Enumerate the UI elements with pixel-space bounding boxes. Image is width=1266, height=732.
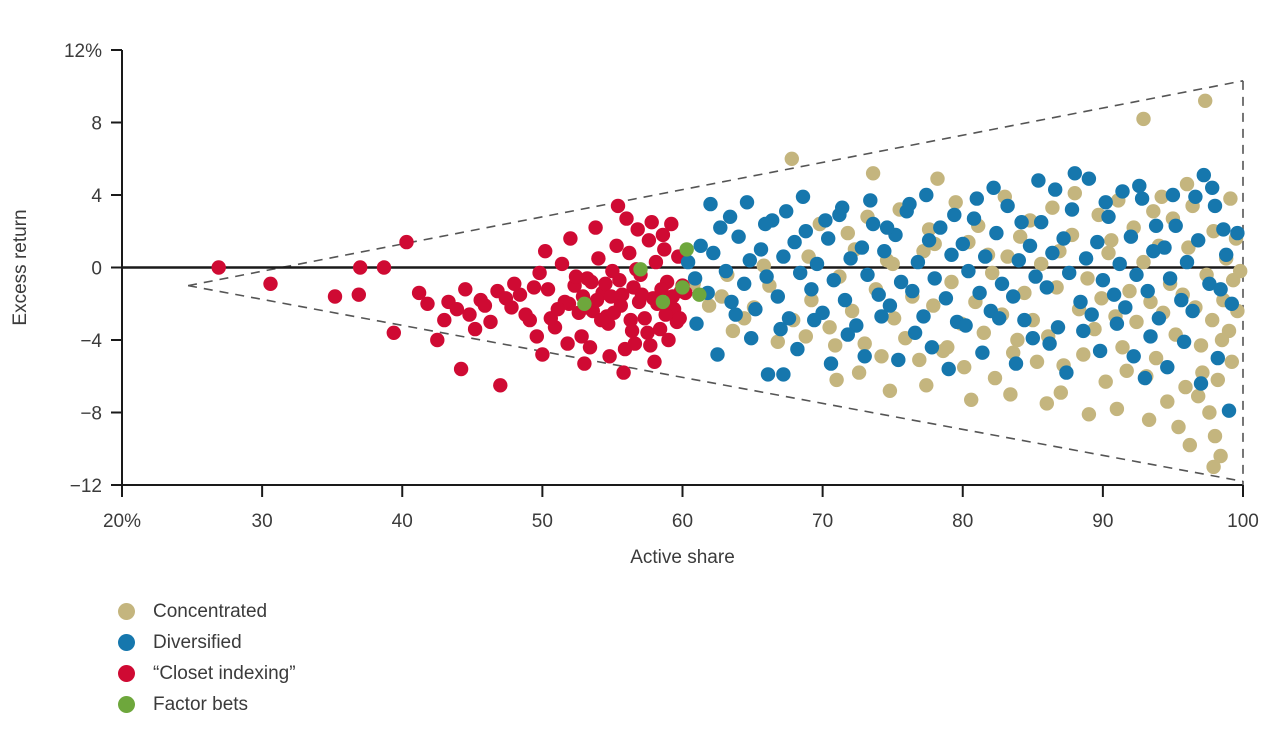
data-point <box>675 280 689 294</box>
data-point <box>594 313 608 327</box>
data-point <box>1213 282 1227 296</box>
data-point <box>866 217 880 231</box>
data-point <box>499 291 513 305</box>
data-point <box>430 333 444 347</box>
data-point <box>1045 246 1059 260</box>
data-point <box>1178 380 1192 394</box>
data-point <box>1115 184 1129 198</box>
legend-label: Diversified <box>153 633 242 652</box>
data-point <box>1160 360 1174 374</box>
data-point <box>263 277 277 291</box>
data-point <box>377 260 391 274</box>
data-point <box>602 349 616 363</box>
data-point <box>1211 351 1225 365</box>
data-point <box>967 211 981 225</box>
data-point <box>726 324 740 338</box>
data-point <box>530 329 544 343</box>
data-point <box>563 231 577 245</box>
data-point <box>611 199 625 213</box>
legend-item[interactable]: Concentrated <box>118 596 296 627</box>
data-point <box>713 220 727 234</box>
data-point <box>588 220 602 234</box>
x-tick-label: 90 <box>1092 511 1113 532</box>
data-point <box>1225 355 1239 369</box>
data-point <box>1068 186 1082 200</box>
data-point <box>212 260 226 274</box>
x-axis-title: Active share <box>630 547 735 568</box>
series-concentrated <box>687 94 1248 474</box>
data-point <box>776 249 790 263</box>
data-point <box>743 253 757 267</box>
data-point <box>947 208 961 222</box>
data-point <box>1059 365 1073 379</box>
data-point <box>1073 295 1087 309</box>
data-point <box>681 255 695 269</box>
data-point <box>894 275 908 289</box>
legend-item[interactable]: “Closet indexing” <box>118 658 296 689</box>
data-point <box>1113 257 1127 271</box>
y-axis-title: Excess return <box>10 209 31 325</box>
data-point <box>673 311 687 325</box>
data-point <box>883 384 897 398</box>
data-point <box>928 271 942 285</box>
data-point <box>985 266 999 280</box>
legend-swatch-icon <box>118 603 135 620</box>
series--closet-indexing- <box>212 199 693 393</box>
data-point <box>328 289 342 303</box>
data-point <box>1012 253 1026 267</box>
data-point <box>437 313 451 327</box>
data-point <box>1222 404 1236 418</box>
data-point <box>821 231 835 245</box>
data-point <box>1188 190 1202 204</box>
data-point <box>919 378 933 392</box>
data-point <box>874 309 888 323</box>
data-point <box>478 298 492 312</box>
data-point <box>569 269 583 283</box>
data-point <box>1099 195 1113 209</box>
data-point <box>616 365 630 379</box>
data-point <box>1110 402 1124 416</box>
data-point <box>1146 204 1160 218</box>
data-point <box>680 242 694 256</box>
data-point <box>818 213 832 227</box>
data-point <box>989 226 1003 240</box>
data-point <box>642 233 656 247</box>
data-point <box>1045 201 1059 215</box>
data-point <box>353 260 367 274</box>
data-point <box>638 311 652 325</box>
data-point <box>1082 172 1096 186</box>
data-point <box>1135 191 1149 205</box>
data-point <box>1138 371 1152 385</box>
data-point <box>577 356 591 370</box>
data-point <box>1174 293 1188 307</box>
data-point <box>1096 273 1110 287</box>
data-point <box>694 239 708 253</box>
data-point <box>507 277 521 291</box>
data-point <box>919 188 933 202</box>
data-point <box>729 307 743 321</box>
data-point <box>1157 240 1171 254</box>
data-point <box>829 373 843 387</box>
data-point <box>1191 389 1205 403</box>
data-point <box>1082 407 1096 421</box>
data-point <box>1149 219 1163 233</box>
data-point <box>1076 347 1090 361</box>
data-point <box>649 255 663 269</box>
data-point <box>1163 271 1177 285</box>
data-point <box>1115 340 1129 354</box>
data-point <box>1208 429 1222 443</box>
legend-label: Factor bets <box>153 695 248 714</box>
plot-layers: 12%840−4−8−1220%30405060708090100Active … <box>10 41 1259 568</box>
data-point <box>1149 351 1163 365</box>
data-point <box>1183 438 1197 452</box>
data-point <box>462 307 476 321</box>
data-point <box>1169 219 1183 233</box>
data-point <box>1034 215 1048 229</box>
series-diversified <box>681 166 1245 418</box>
data-point <box>692 288 706 302</box>
data-point <box>1028 269 1042 283</box>
data-point <box>1223 191 1237 205</box>
data-point <box>538 244 552 258</box>
x-tick-label: 20% <box>103 511 141 532</box>
data-point <box>933 220 947 234</box>
legend-swatch-icon <box>118 696 135 713</box>
data-point <box>1171 420 1185 434</box>
data-point <box>584 275 598 289</box>
legend-item[interactable]: Factor bets <box>118 689 296 720</box>
data-point <box>661 333 675 347</box>
data-point <box>1233 264 1247 278</box>
data-point <box>1136 112 1150 126</box>
data-point <box>799 224 813 238</box>
data-point <box>1230 226 1244 240</box>
data-point <box>607 306 621 320</box>
data-point <box>1101 246 1115 260</box>
data-point <box>591 251 605 265</box>
data-point <box>740 195 754 209</box>
data-point <box>731 230 745 244</box>
data-point <box>458 282 472 296</box>
data-point <box>645 215 659 229</box>
data-point <box>807 313 821 327</box>
data-point <box>835 201 849 215</box>
legend-item[interactable]: Diversified <box>118 627 296 658</box>
data-point <box>1099 375 1113 389</box>
x-tick-label: 100 <box>1227 511 1259 532</box>
data-point <box>628 336 642 350</box>
legend-swatch-icon <box>118 634 135 651</box>
data-point <box>874 349 888 363</box>
data-point <box>657 242 671 256</box>
data-point <box>1120 364 1134 378</box>
data-point <box>1003 387 1017 401</box>
data-point <box>1054 385 1068 399</box>
data-point <box>1205 313 1219 327</box>
data-point <box>956 237 970 251</box>
data-point <box>977 326 991 340</box>
data-point <box>1216 222 1230 236</box>
data-point <box>1205 181 1219 195</box>
data-point <box>737 277 751 291</box>
data-point <box>988 371 1002 385</box>
data-point <box>551 302 565 316</box>
data-point <box>785 152 799 166</box>
data-point <box>1118 300 1132 314</box>
data-point <box>771 335 785 349</box>
data-point <box>1040 396 1054 410</box>
data-point <box>1110 317 1124 331</box>
data-point <box>420 297 434 311</box>
data-point <box>454 362 468 376</box>
data-point <box>1136 255 1150 269</box>
data-point <box>1166 188 1180 202</box>
data-point <box>1124 230 1138 244</box>
data-point <box>527 280 541 294</box>
data-point <box>841 327 855 341</box>
data-point <box>995 277 1009 291</box>
chart-container: 12%840−4−8−1220%30405060708090100Active … <box>0 0 1266 732</box>
data-point <box>761 367 775 381</box>
data-point <box>827 273 841 287</box>
data-point <box>1040 280 1054 294</box>
legend-label: “Closet indexing” <box>153 664 296 683</box>
data-point <box>1160 394 1174 408</box>
data-point <box>838 293 852 307</box>
y-tick-label: −8 <box>80 404 102 425</box>
data-point <box>975 346 989 360</box>
data-point <box>656 228 670 242</box>
data-point <box>1177 335 1191 349</box>
y-tick-label: 0 <box>91 259 102 280</box>
data-point <box>891 353 905 367</box>
data-point <box>1042 336 1056 350</box>
data-point <box>483 315 497 329</box>
data-point <box>1014 215 1028 229</box>
data-point <box>958 318 972 332</box>
data-point <box>1142 413 1156 427</box>
data-point <box>1093 344 1107 358</box>
data-point <box>450 302 464 316</box>
data-point <box>877 244 891 258</box>
data-point <box>1090 235 1104 249</box>
data-point <box>1056 231 1070 245</box>
data-point <box>970 191 984 205</box>
data-point <box>723 210 737 224</box>
data-point <box>622 246 636 260</box>
data-point <box>1211 373 1225 387</box>
data-point <box>940 340 954 354</box>
data-point <box>598 277 612 291</box>
data-point <box>1122 284 1136 298</box>
data-point <box>880 220 894 234</box>
data-point <box>916 309 930 323</box>
data-point <box>1009 356 1023 370</box>
data-point <box>1034 257 1048 271</box>
data-point <box>911 255 925 269</box>
data-point <box>843 251 857 265</box>
data-point <box>858 349 872 363</box>
data-point <box>1101 210 1115 224</box>
y-tick-label: 12% <box>64 41 102 62</box>
data-point <box>1048 182 1062 196</box>
data-point <box>1208 199 1222 213</box>
data-point <box>631 222 645 236</box>
data-point <box>659 307 673 321</box>
data-point <box>986 181 1000 195</box>
data-point <box>858 336 872 350</box>
data-point <box>804 282 818 296</box>
data-point <box>1198 94 1212 108</box>
data-point <box>532 266 546 280</box>
data-point <box>647 355 661 369</box>
data-point <box>625 324 639 338</box>
data-point <box>787 235 801 249</box>
x-tick-label: 60 <box>672 511 693 532</box>
data-point <box>1076 324 1090 338</box>
data-point <box>1026 331 1040 345</box>
data-point <box>640 326 654 340</box>
data-point <box>771 289 785 303</box>
data-point <box>957 360 971 374</box>
data-point <box>1191 233 1205 247</box>
data-point <box>535 347 549 361</box>
data-point <box>799 329 813 343</box>
data-point <box>1010 333 1024 347</box>
data-point <box>841 226 855 240</box>
data-point <box>1152 311 1166 325</box>
data-point <box>1094 291 1108 305</box>
data-point <box>902 197 916 211</box>
data-point <box>912 353 926 367</box>
data-point <box>748 302 762 316</box>
data-point <box>1194 338 1208 352</box>
data-point <box>1030 355 1044 369</box>
data-point <box>1085 307 1099 321</box>
data-point <box>1006 289 1020 303</box>
data-point <box>493 378 507 392</box>
data-point <box>776 367 790 381</box>
data-point <box>944 248 958 262</box>
data-point <box>1225 297 1239 311</box>
data-point <box>387 326 401 340</box>
y-tick-label: −12 <box>70 476 102 497</box>
data-point <box>793 266 807 280</box>
data-point <box>1127 349 1141 363</box>
legend-swatch-icon <box>118 665 135 682</box>
data-point <box>555 257 569 271</box>
data-point <box>710 347 724 361</box>
data-point <box>978 249 992 263</box>
data-point <box>719 264 733 278</box>
data-point <box>905 284 919 298</box>
data-point <box>1062 266 1076 280</box>
data-point <box>852 365 866 379</box>
chart-legend: ConcentratedDiversified“Closet indexing”… <box>118 596 296 720</box>
data-point <box>908 326 922 340</box>
data-point <box>744 331 758 345</box>
data-point <box>619 211 633 225</box>
y-tick-label: 4 <box>91 186 102 207</box>
data-point <box>810 257 824 271</box>
data-point <box>702 298 716 312</box>
data-point <box>1141 284 1155 298</box>
data-point <box>872 288 886 302</box>
data-point <box>930 172 944 186</box>
data-point <box>643 338 657 352</box>
data-point <box>688 271 702 285</box>
data-point <box>689 317 703 331</box>
y-tick-label: −4 <box>80 331 102 352</box>
data-point <box>1185 304 1199 318</box>
data-point <box>828 338 842 352</box>
data-point <box>773 322 787 336</box>
data-point <box>612 273 626 287</box>
data-point <box>724 295 738 309</box>
data-point <box>1068 166 1082 180</box>
y-tick-label: 8 <box>91 114 102 135</box>
data-point <box>399 235 413 249</box>
data-point <box>939 291 953 305</box>
data-point <box>1000 199 1014 213</box>
data-point <box>1023 239 1037 253</box>
data-point <box>759 269 773 283</box>
data-point <box>541 282 555 296</box>
data-point <box>1017 313 1031 327</box>
data-point <box>1065 202 1079 216</box>
data-point <box>1194 376 1208 390</box>
data-point <box>866 166 880 180</box>
data-point <box>1080 271 1094 285</box>
data-point <box>944 275 958 289</box>
data-point <box>1104 233 1118 247</box>
data-point <box>922 233 936 247</box>
data-point <box>1206 460 1220 474</box>
data-point <box>964 393 978 407</box>
data-point <box>577 297 591 311</box>
data-point <box>654 282 668 296</box>
data-point <box>822 320 836 334</box>
x-tick-label: 70 <box>812 511 833 532</box>
data-point <box>656 295 670 309</box>
data-point <box>1219 248 1233 262</box>
data-point <box>1143 329 1157 343</box>
legend-label: Concentrated <box>153 602 267 621</box>
data-point <box>758 217 772 231</box>
data-point <box>961 264 975 278</box>
data-point <box>352 288 366 302</box>
x-tick-label: 80 <box>952 511 973 532</box>
data-point <box>942 362 956 376</box>
data-point <box>518 307 532 321</box>
data-point <box>703 197 717 211</box>
data-point <box>992 311 1006 325</box>
data-point <box>779 204 793 218</box>
data-point <box>1132 179 1146 193</box>
data-point <box>860 268 874 282</box>
data-point <box>706 246 720 260</box>
data-point <box>1129 268 1143 282</box>
data-point <box>1202 405 1216 419</box>
x-tick-label: 30 <box>252 511 273 532</box>
data-point <box>1031 173 1045 187</box>
data-point <box>886 257 900 271</box>
data-point <box>609 239 623 253</box>
data-point <box>633 262 647 276</box>
